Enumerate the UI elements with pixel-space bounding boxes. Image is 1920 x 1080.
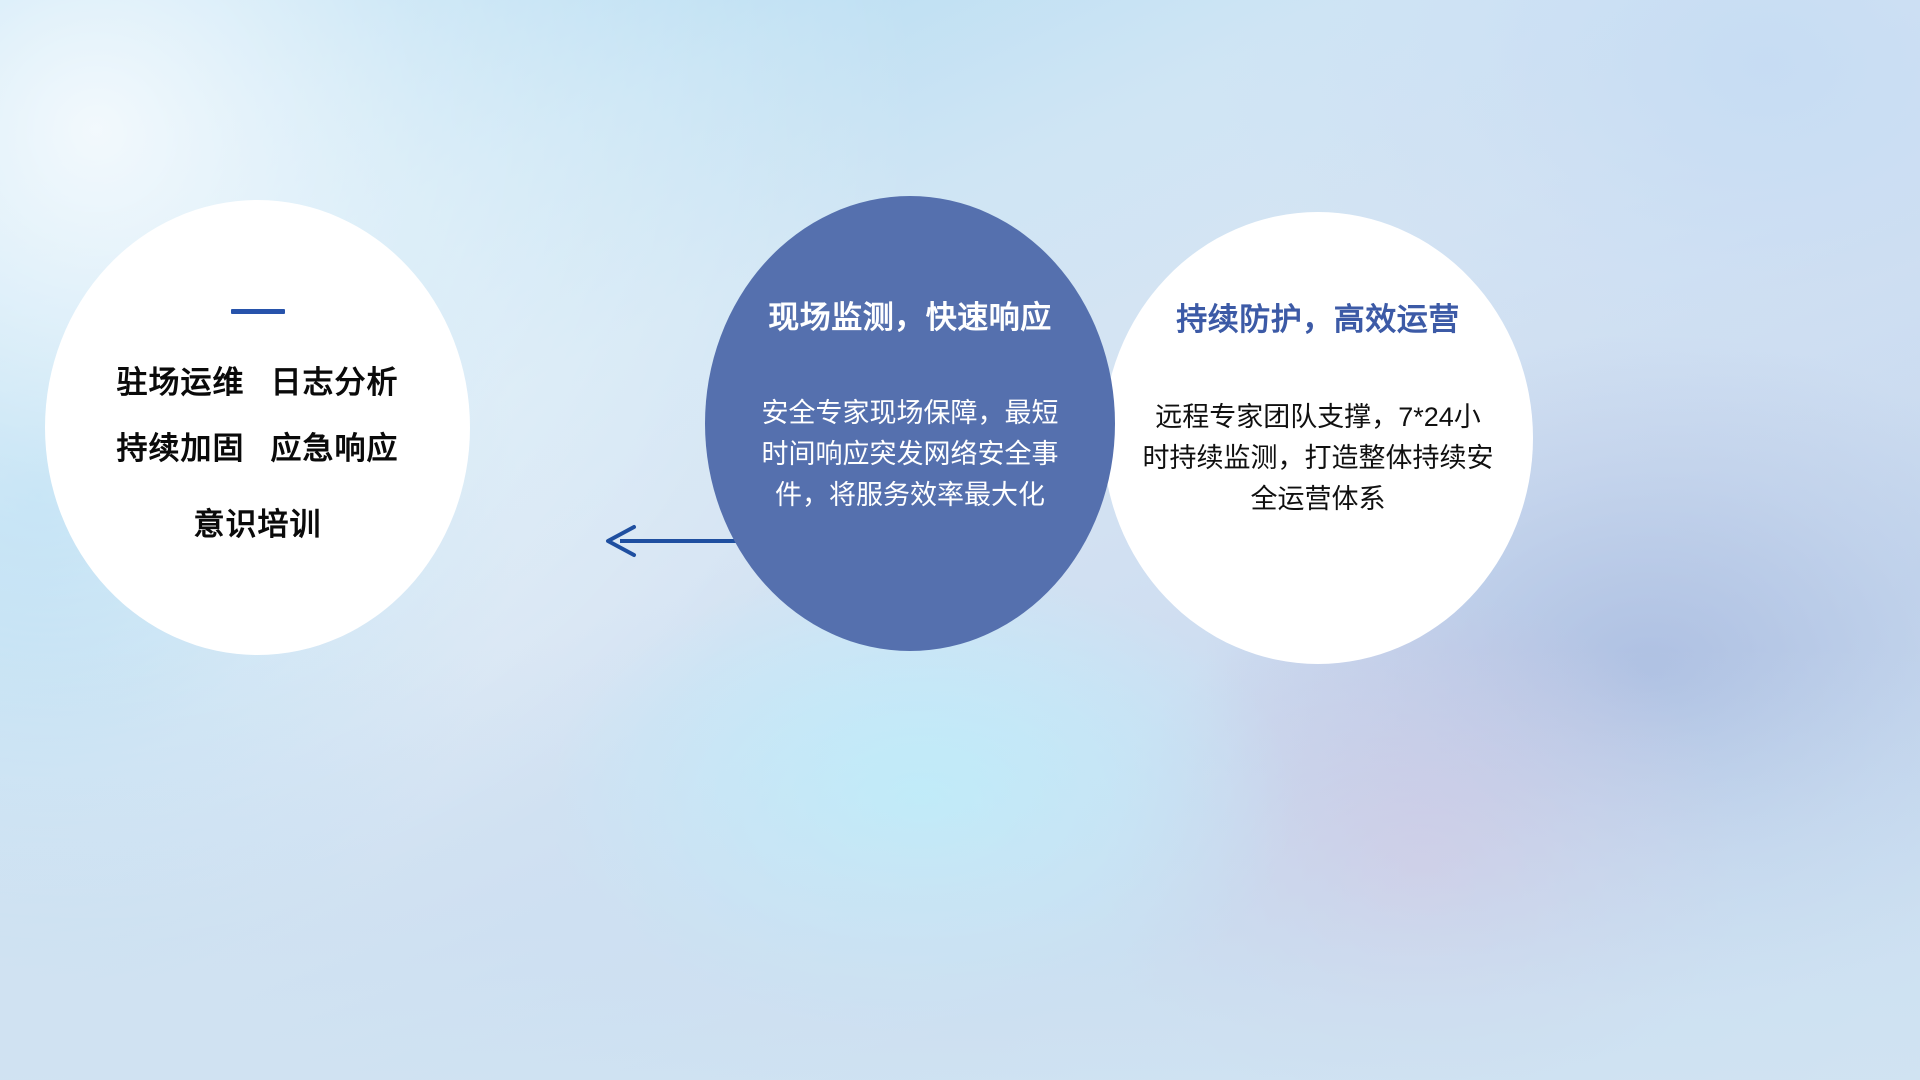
middle-service-circle: 现场监测，快速响应 安全专家现场保障，最短时间响应突发网络安全事件，将服务效率最… xyxy=(705,196,1115,651)
left-item-chixu-jiagu: 持续加固 xyxy=(117,431,245,466)
left-item-yishi-peixun: 意识培训 xyxy=(194,507,322,542)
slide-canvas: 驻场运维日志分析 持续加固应急响应 意识培训 持续防护，高效运营 远程专家团队支… xyxy=(0,0,1920,1080)
horizontal-dash-icon xyxy=(231,309,285,314)
left-item-rizhi-fenxi: 日志分析 xyxy=(271,365,399,400)
left-item-zhuchang-yunwei: 驻场运维 xyxy=(117,365,245,400)
right-circle-content: 持续防护，高效运营 远程专家团队支撑，7*24小时持续监测，打造整体持续安全运营… xyxy=(1103,212,1533,664)
left-capability-circle: 驻场运维日志分析 持续加固应急响应 意识培训 xyxy=(45,200,470,655)
left-item-yingji-xiangying: 应急响应 xyxy=(271,431,399,466)
left-circle-line-2: 持续加固应急响应 xyxy=(117,428,399,470)
middle-circle-content: 现场监测，快速响应 安全专家现场保障，最短时间响应突发网络安全事件，将服务效率最… xyxy=(705,196,1115,651)
left-circle-line-3: 意识培训 xyxy=(194,504,322,546)
middle-circle-body: 安全专家现场保障，最短时间响应突发网络安全事件，将服务效率最大化 xyxy=(760,393,1060,516)
left-circle-content: 驻场运维日志分析 持续加固应急响应 意识培训 xyxy=(45,200,470,655)
middle-circle-title: 现场监测，快速响应 xyxy=(768,292,1052,337)
right-circle-title: 持续防护，高效运营 xyxy=(1176,294,1460,339)
right-circle-body: 远程专家团队支撑，7*24小时持续监测，打造整体持续安全运营体系 xyxy=(1142,397,1494,520)
left-circle-line-1: 驻场运维日志分析 xyxy=(117,362,399,404)
right-service-circle: 持续防护，高效运营 远程专家团队支撑，7*24小时持续监测，打造整体持续安全运营… xyxy=(1103,212,1533,664)
